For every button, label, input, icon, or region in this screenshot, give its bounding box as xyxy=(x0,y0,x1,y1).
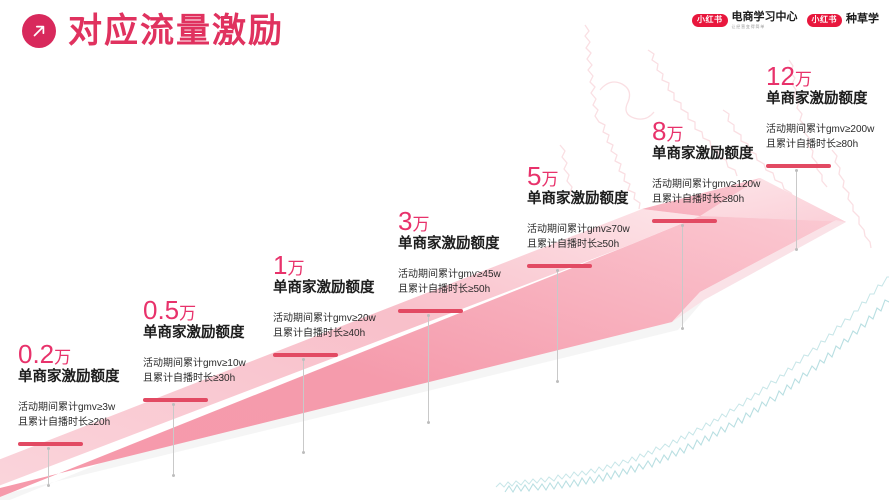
step-tier-5: 5万 单商家激励额度 活动期间累计gmv≥70w 且累计自播时长≥50h xyxy=(527,163,630,268)
step-tier-2: 0.5万 单商家激励额度 活动期间累计gmv≥10w 且累计自播时长≥30h xyxy=(143,297,246,402)
step-condition-duration: 且累计自播时长≥40h xyxy=(273,326,376,342)
brand-logo-bar: 小红书 电商学习中心 让经营变得简单 小红书 种草学 xyxy=(692,12,879,29)
step-amount: 5万 xyxy=(527,163,630,190)
logo-ecommerce-learning-center: 小红书 电商学习中心 让经营变得简单 xyxy=(692,12,798,29)
step-amount: 8万 xyxy=(652,118,760,145)
logo-subtitle: 让经营变得简单 xyxy=(732,25,798,29)
step-amount-value: 3 xyxy=(398,206,412,236)
xiaohongshu-pill-logo: 小红书 xyxy=(807,14,843,27)
step-condition-duration: 且累计自播时长≥80h xyxy=(652,192,760,208)
step-caption: 单商家激励额度 xyxy=(398,236,501,253)
step-marker-bar xyxy=(398,309,463,313)
step-marker-bar xyxy=(273,353,338,357)
slide-root: 对应流量激励 小红书 电商学习中心 让经营变得简单 小红书 种草学 0.2万 单… xyxy=(0,0,889,500)
step-amount-unit: 万 xyxy=(54,348,71,367)
step-tier-4: 3万 单商家激励额度 活动期间累计gmv≥45w 且累计自播时长≥50h xyxy=(398,208,501,313)
step-caption: 单商家激励额度 xyxy=(273,280,376,297)
step-amount-unit: 万 xyxy=(795,70,812,89)
step-condition-duration: 且累计自播时长≥50h xyxy=(527,237,630,253)
step-amount-value: 0.5 xyxy=(143,295,179,325)
step-amount-value: 5 xyxy=(527,161,541,191)
connector-line xyxy=(173,404,174,476)
step-amount: 0.2万 xyxy=(18,341,120,368)
logo-word: 种草学 xyxy=(846,14,879,26)
step-amount-value: 8 xyxy=(652,116,666,146)
step-condition-gmv: 活动期间累计gmv≥70w xyxy=(527,222,630,238)
step-amount-unit: 万 xyxy=(287,259,304,278)
connector-line xyxy=(48,448,49,486)
step-condition-duration: 且累计自播时长≥50h xyxy=(398,282,501,298)
step-amount-unit: 万 xyxy=(179,304,196,323)
step-amount-unit: 万 xyxy=(666,125,683,144)
step-condition-gmv: 活动期间累计gmv≥3w xyxy=(18,400,120,416)
page-title: 对应流量激励 xyxy=(68,14,284,48)
step-marker-bar xyxy=(143,398,208,402)
step-amount-unit: 万 xyxy=(412,215,429,234)
step-caption: 单商家激励额度 xyxy=(527,191,630,208)
page-header: 对应流量激励 xyxy=(22,14,284,48)
step-marker-bar xyxy=(527,264,592,268)
step-tier-3: 1万 单商家激励额度 活动期间累计gmv≥20w 且累计自播时长≥40h xyxy=(273,252,376,357)
step-condition-duration: 且累计自播时长≥80h xyxy=(766,137,874,153)
connector-line xyxy=(796,170,797,250)
step-caption: 单商家激励额度 xyxy=(18,369,120,386)
step-tier-7: 12万 单商家激励额度 活动期间累计gmv≥200w 且累计自播时长≥80h xyxy=(766,63,874,168)
step-amount: 1万 xyxy=(273,252,376,279)
connector-line xyxy=(428,315,429,423)
connector-line xyxy=(557,270,558,382)
step-condition-gmv: 活动期间累计gmv≥200w xyxy=(766,122,874,138)
step-amount-unit: 万 xyxy=(541,170,558,189)
step-caption: 单商家激励额度 xyxy=(652,146,760,163)
step-condition-gmv: 活动期间累计gmv≥45w xyxy=(398,267,501,283)
arrow-up-right-icon xyxy=(22,14,56,48)
connector-line xyxy=(303,359,304,453)
logo-zhongcaoxue: 小红书 种草学 xyxy=(807,14,880,27)
step-amount-value: 1 xyxy=(273,250,287,280)
connector-line xyxy=(682,225,683,329)
step-tier-6: 8万 单商家激励额度 活动期间累计gmv≥120w 且累计自播时长≥80h xyxy=(652,118,760,223)
step-tier-1: 0.2万 单商家激励额度 活动期间累计gmv≥3w 且累计自播时长≥20h xyxy=(18,341,120,446)
step-condition-duration: 且累计自播时长≥30h xyxy=(143,371,246,387)
step-caption: 单商家激励额度 xyxy=(143,325,246,342)
step-amount: 3万 xyxy=(398,208,501,235)
step-amount-value: 12 xyxy=(766,61,795,91)
step-condition-gmv: 活动期间累计gmv≥10w xyxy=(143,356,246,372)
step-amount: 12万 xyxy=(766,63,874,90)
step-condition-gmv: 活动期间累计gmv≥20w xyxy=(273,311,376,327)
step-marker-bar xyxy=(18,442,83,446)
step-marker-bar xyxy=(766,164,831,168)
logo-word: 电商学习中心 xyxy=(732,12,798,24)
step-amount: 0.5万 xyxy=(143,297,246,324)
step-caption: 单商家激励额度 xyxy=(766,91,874,108)
step-condition-gmv: 活动期间累计gmv≥120w xyxy=(652,177,760,193)
xiaohongshu-pill-logo: 小红书 xyxy=(692,14,728,27)
step-amount-value: 0.2 xyxy=(18,339,54,369)
step-condition-duration: 且累计自播时长≥20h xyxy=(18,415,120,431)
step-marker-bar xyxy=(652,219,717,223)
